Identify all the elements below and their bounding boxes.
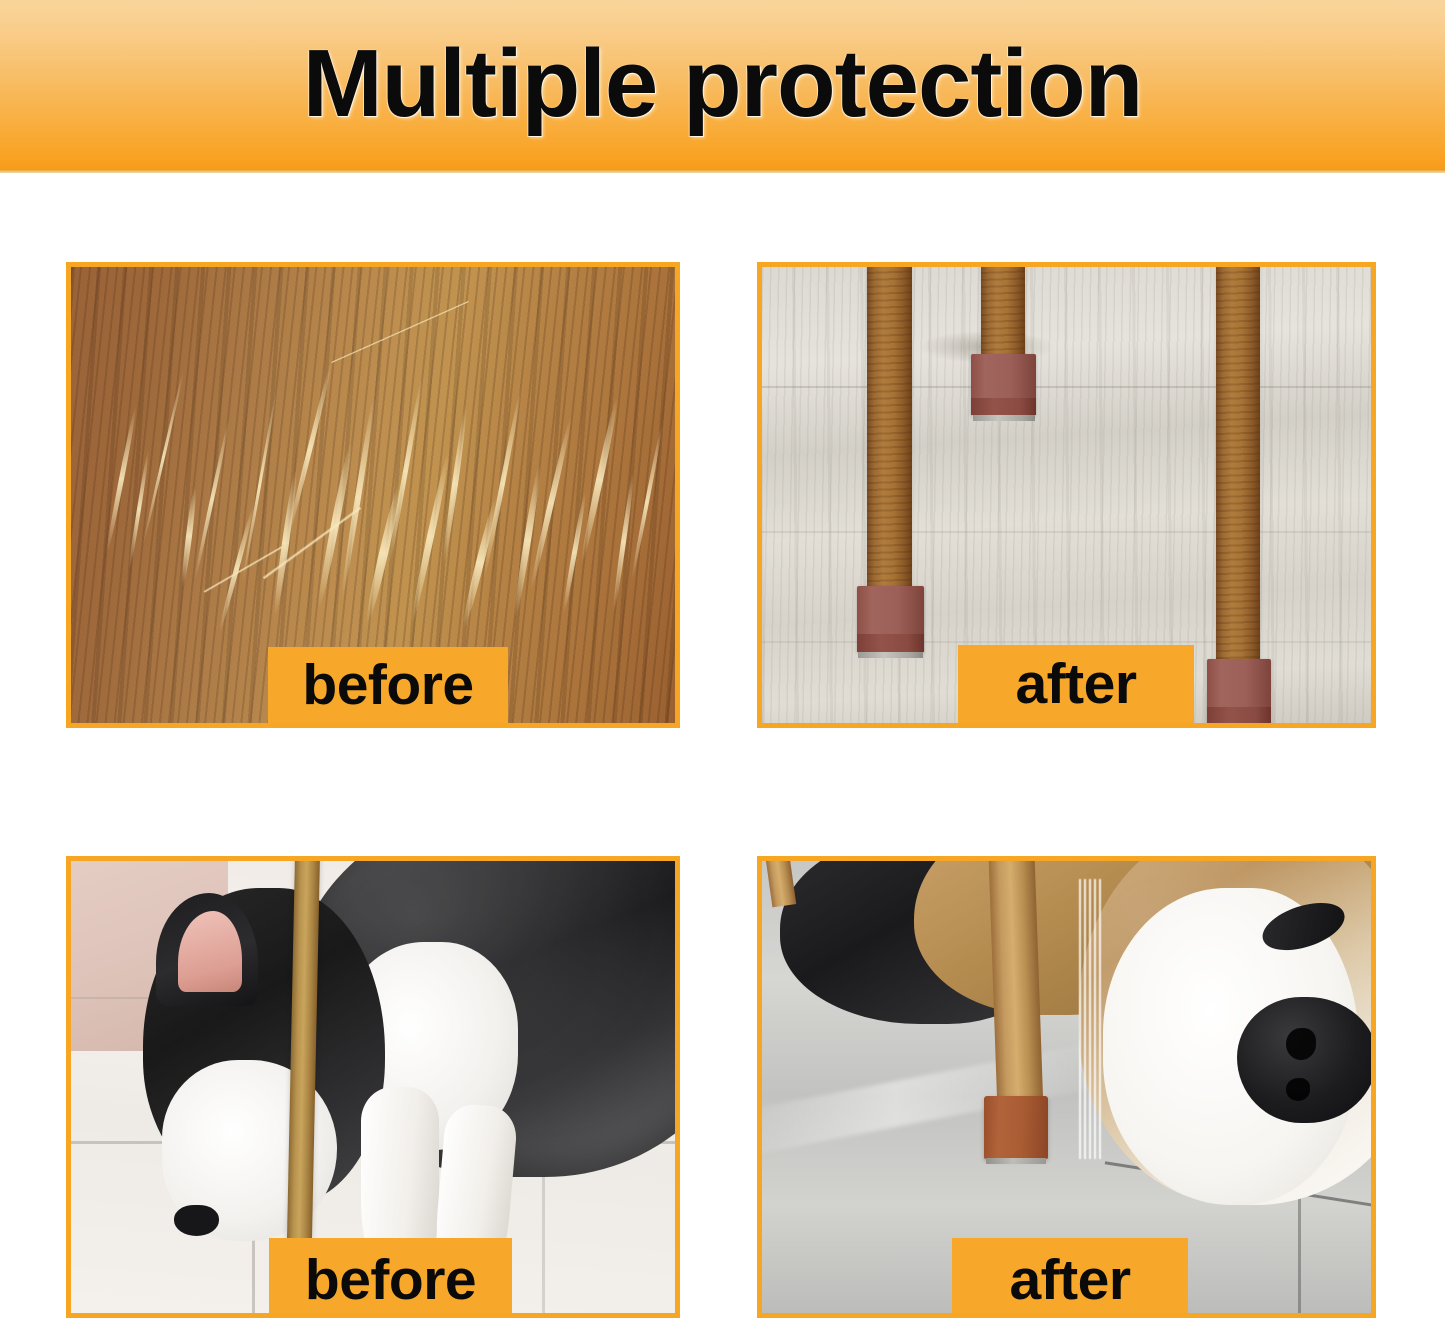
caption-after: after bbox=[952, 1238, 1188, 1313]
felt-bottom-cap bbox=[986, 1158, 1046, 1164]
furniture-pad-left bbox=[857, 586, 924, 652]
furniture-pad-right bbox=[1207, 659, 1272, 723]
felt-bottom-back bbox=[973, 414, 1035, 421]
table-leg-right bbox=[1216, 267, 1260, 668]
panel-after-protected-leg: after bbox=[757, 856, 1376, 1318]
dog-fur-edge bbox=[1079, 879, 1103, 1159]
infographic-page: Multiple protection bbox=[0, 0, 1445, 1324]
furniture-pad-back bbox=[971, 354, 1036, 416]
photo-table-legs-with-pads: after bbox=[762, 267, 1371, 723]
caption-before: before bbox=[268, 647, 508, 723]
felt-bottom-left bbox=[858, 651, 922, 658]
table-leg-back bbox=[981, 267, 1025, 367]
caption-after: after bbox=[958, 645, 1194, 723]
table-leg-left bbox=[867, 267, 913, 595]
husky-nose bbox=[174, 1205, 219, 1237]
chair-leg-protected bbox=[989, 861, 1044, 1115]
dog-nose bbox=[1237, 997, 1371, 1124]
photo-scratched-floor: before bbox=[71, 267, 675, 723]
panel-before-floor: before bbox=[66, 262, 680, 728]
husky-ear-inner bbox=[178, 911, 242, 992]
page-title: Multiple protection bbox=[303, 36, 1143, 132]
panel-after-legs: after bbox=[757, 262, 1376, 728]
panel-before-chewing: before bbox=[66, 856, 680, 1318]
silicone-leg-cap bbox=[984, 1096, 1048, 1159]
photo-husky-chewing-leg: before bbox=[71, 861, 675, 1313]
header-banner: Multiple protection bbox=[0, 0, 1445, 173]
caption-before: before bbox=[269, 1238, 512, 1313]
photo-dog-with-capped-leg: after bbox=[762, 861, 1371, 1313]
